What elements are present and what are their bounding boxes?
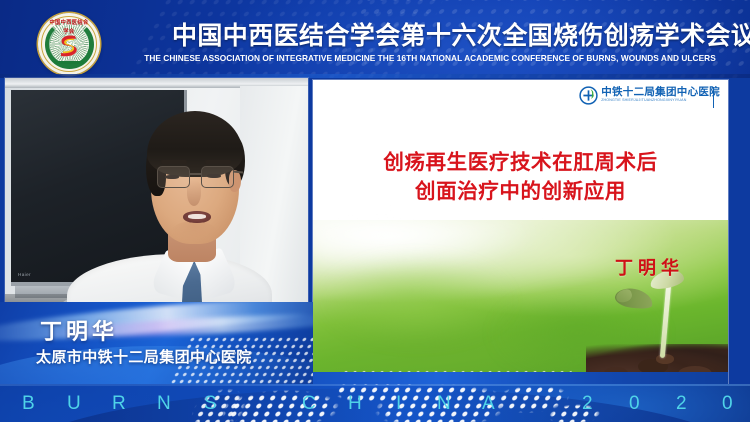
speaker-teeth xyxy=(188,214,206,219)
footer-letter: I xyxy=(396,394,401,413)
presentation-slide[interactable]: 中铁十二局集团中心医院 ZHONGTIE SHIERJUJITUANZHONGX… xyxy=(313,80,728,384)
hospital-logo: 中铁十二局集团中心医院 ZHONGTIE SHIERJUJITUANZHONGX… xyxy=(579,83,720,107)
footer-letter: 0 xyxy=(722,394,733,413)
slide-title: 创疡再生医疗技术在肛周术后 创面治疗中的创新应用 xyxy=(313,148,728,206)
page-subtitle-english: THE CHINESE ASSOCIATION OF INTEGRATIVE M… xyxy=(127,53,733,63)
footer-letter: C xyxy=(302,394,316,413)
emblem-base-bar xyxy=(54,61,84,64)
hospital-cross-icon xyxy=(579,86,598,105)
glasses-lens-right xyxy=(201,166,234,188)
conference-header-banner: 中国中西医结合学会 中国中西医结合学会第十六次全国烧伤创疡学术会议 THE CH… xyxy=(0,0,750,78)
footer-banner: BURNSCHINA2020 xyxy=(0,384,750,422)
emblem-s-glyph-icon xyxy=(57,32,81,58)
footer-letter: 0 xyxy=(629,394,640,413)
speaker-nose xyxy=(187,180,201,206)
hospital-logo-rule xyxy=(713,87,714,108)
slide-green-photo xyxy=(313,220,728,384)
footer-letter: N xyxy=(437,394,451,413)
page-title: 中国中西医结合学会第十六次全国烧伤创疡学术会议 xyxy=(172,21,728,51)
speaker-chin xyxy=(171,221,217,243)
footer-wordmark: BURNSCHINA2020 xyxy=(0,384,750,422)
footer-letter: 2 xyxy=(676,394,687,413)
speaker-eyebrow-left xyxy=(161,160,187,164)
glasses-lens-left xyxy=(157,166,190,188)
slide-title-line-2: 创面治疗中的创新应用 xyxy=(313,177,728,206)
speaker-name: 丁明华 xyxy=(40,314,118,346)
hospital-name-block: 中铁十二局集团中心医院 ZHONGTIE SHIERJUJITUANZHONGX… xyxy=(601,87,720,103)
speaker-video-feed[interactable]: Haier xyxy=(5,78,308,316)
speaker-eyebrow-right xyxy=(205,160,231,164)
footer-letter: 2 xyxy=(582,394,593,413)
slide-author-name: 丁明华 xyxy=(615,254,684,280)
hospital-name-pinyin: ZHONGTIE SHIERJUJITUANZHONGXINYIYUAN xyxy=(601,99,720,103)
display-brand-label: Haier xyxy=(18,272,31,277)
speaker-organization: 太原市中铁十二局集团中心医院 xyxy=(36,346,252,367)
soil-clump xyxy=(656,354,674,364)
footer-letter: H xyxy=(348,394,362,413)
broadcast-screen: 中国中西医结合学会 中国中西医结合学会第十六次全国烧伤创疡学术会议 THE CH… xyxy=(0,0,750,422)
cami-emblem-icon: 中国中西医结合学会 xyxy=(38,13,100,75)
lower-third-nameplate: 丁明华 太原市中铁十二局集团中心医院 xyxy=(0,302,313,388)
hospital-name-cn: 中铁十二局集团中心医院 xyxy=(601,87,720,98)
footer-letter: A xyxy=(482,394,495,413)
green-blur-left xyxy=(321,256,512,345)
footer-letter: R xyxy=(112,394,126,413)
footer-letter: U xyxy=(67,394,81,413)
footer-letter: B xyxy=(22,394,35,413)
slide-title-line-1: 创疡再生医疗技术在肛周术后 xyxy=(313,148,728,177)
glasses-bridge xyxy=(190,173,201,175)
footer-letter: S xyxy=(204,394,217,413)
footer-letter: N xyxy=(157,394,171,413)
glasses-temple xyxy=(233,170,243,173)
slide-bottom-bar xyxy=(313,372,728,384)
